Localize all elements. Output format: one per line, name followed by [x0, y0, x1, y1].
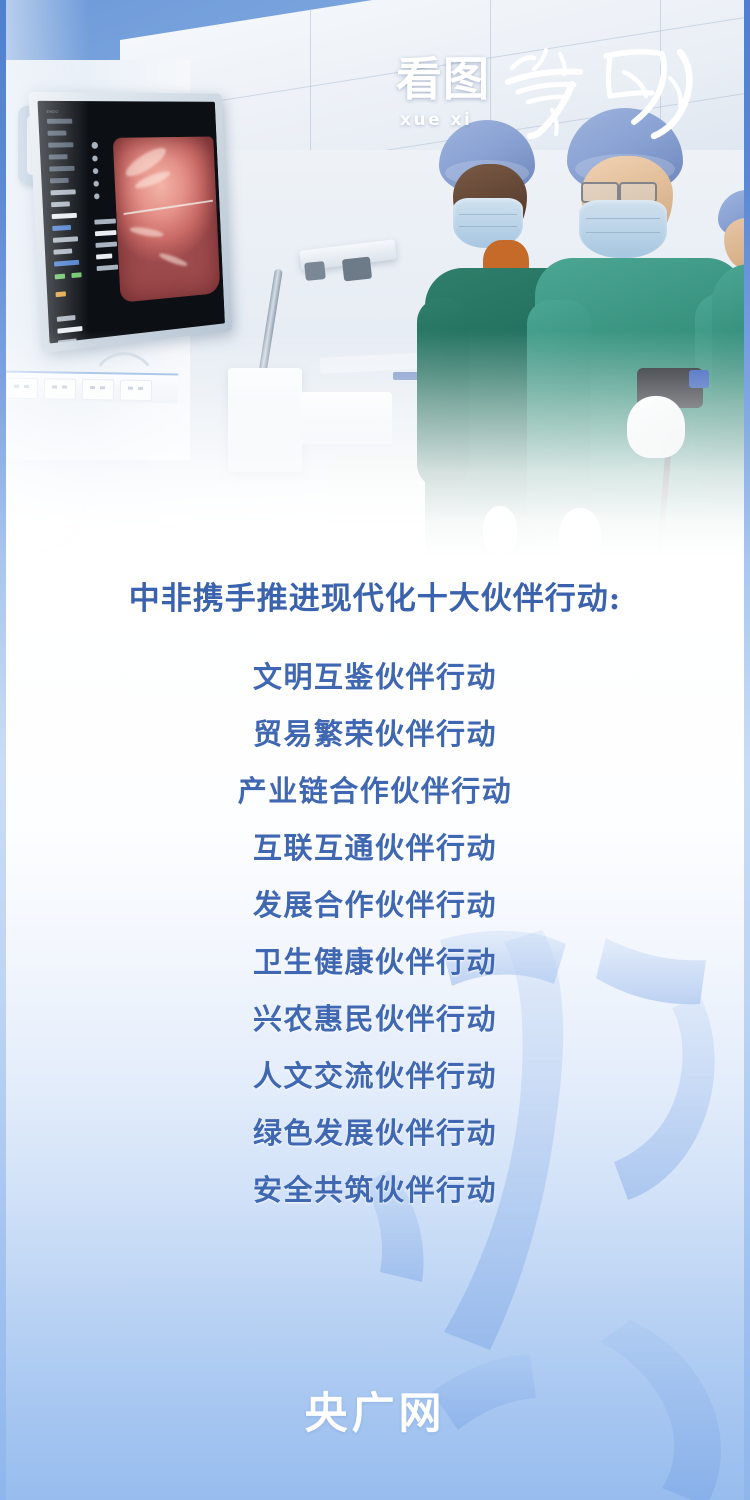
program-logo: 看图 xue xi	[396, 44, 706, 154]
publisher-logo: 央广网	[305, 1379, 446, 1441]
list-item: 贸易繁荣伙伴行动	[0, 706, 750, 763]
logo-pinyin-text: xue xi	[400, 110, 472, 130]
list-item: 兴农惠民伙伴行动	[0, 991, 750, 1048]
list-item: 绿色发展伙伴行动	[0, 1105, 750, 1162]
camera-head-secondary	[304, 261, 326, 281]
list-item: 文明互鉴伙伴行动	[0, 649, 750, 706]
list-item: 产业链合作伙伴行动	[0, 763, 750, 820]
logo-calligraphy-xuexi	[494, 38, 706, 142]
list-item: 互联互通伙伴行动	[0, 820, 750, 877]
photo-left-fade	[0, 0, 90, 560]
logo-main-text: 看图	[396, 56, 490, 102]
partner-action-list: 文明互鉴伙伴行动 贸易繁荣伙伴行动 产业链合作伙伴行动 互联互通伙伴行动 发展合…	[0, 619, 750, 1219]
endoscopy-image	[113, 137, 221, 303]
content-block: 中非携手推进现代化十大伙伴行动: 文明互鉴伙伴行动 贸易繁荣伙伴行动 产业链合作…	[0, 560, 750, 1219]
list-item: 安全共筑伙伴行动	[0, 1162, 750, 1219]
camera-head	[342, 257, 372, 282]
page-title: 中非携手推进现代化十大伙伴行动:	[0, 560, 750, 619]
poster-root: ENDO	[0, 0, 750, 1500]
list-item: 卫生健康伙伴行动	[0, 934, 750, 991]
surgical-mask	[579, 200, 667, 258]
footer-bar: 央广网	[0, 1330, 750, 1500]
photo-bottom-fade	[0, 330, 750, 560]
list-item: 发展合作伙伴行动	[0, 877, 750, 934]
list-item: 人文交流伙伴行动	[0, 1048, 750, 1105]
